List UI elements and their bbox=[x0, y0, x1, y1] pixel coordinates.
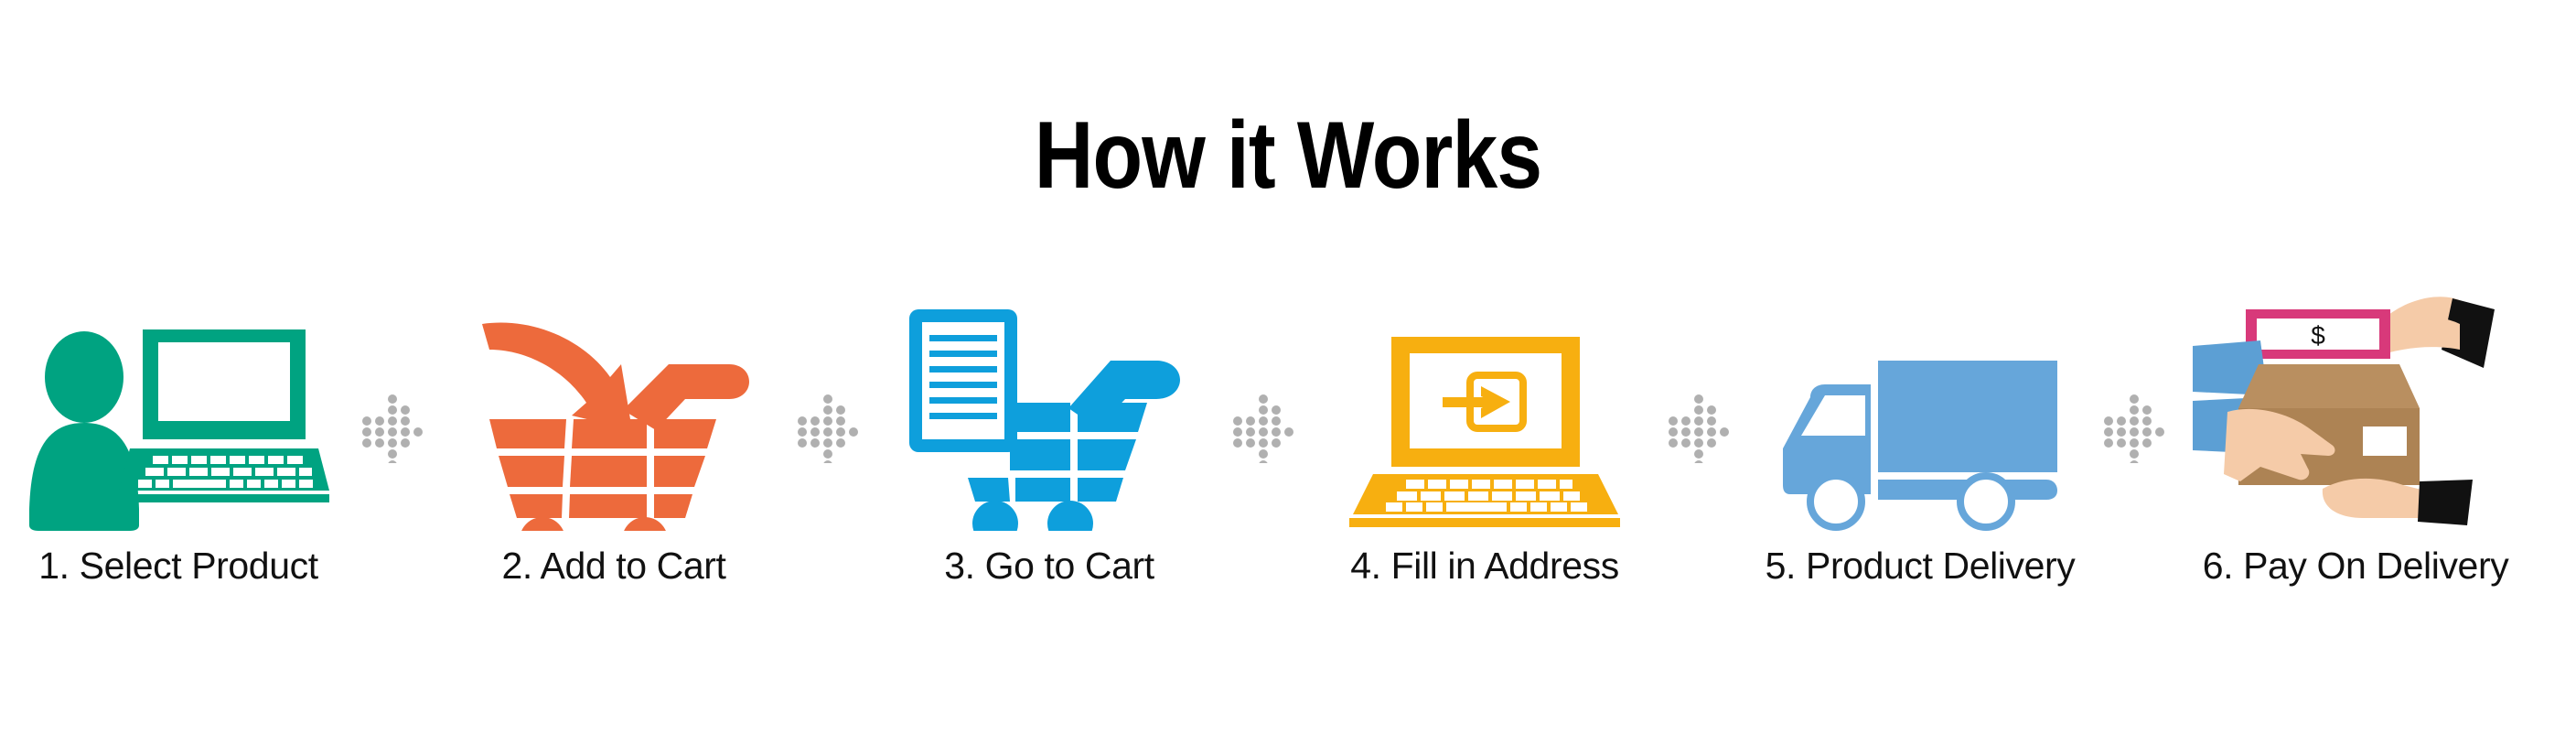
step-pay-on-delivery[interactable]: $ bbox=[2177, 302, 2534, 632]
dotted-arrow-right-icon bbox=[1228, 302, 1306, 632]
page-title: How it Works bbox=[180, 108, 2396, 203]
step-label: 6. Pay On Delivery bbox=[2203, 544, 2509, 588]
step-label: 2. Add to Cart bbox=[501, 544, 725, 588]
dotted-arrow-right-icon bbox=[357, 302, 435, 632]
document-with-cart-icon bbox=[871, 302, 1228, 531]
dotted-arrow-right-icon bbox=[1663, 302, 1742, 632]
how-it-works-infographic: How it Works bbox=[0, 0, 2576, 745]
delivery-truck-icon bbox=[1742, 302, 2098, 531]
dotted-arrow-right-icon bbox=[792, 302, 871, 632]
steps-row: 1. Select Product bbox=[0, 302, 2576, 632]
hands-exchanging-box-and-money-icon: $ bbox=[2177, 302, 2534, 531]
step-label: 1. Select Product bbox=[38, 544, 317, 588]
step-add-to-cart[interactable]: 2. Add to Cart bbox=[435, 302, 792, 632]
step-fill-in-address[interactable]: 4. Fill in Address bbox=[1306, 302, 1663, 632]
arrow-into-cart-icon bbox=[435, 302, 792, 531]
step-label: 4. Fill in Address bbox=[1350, 544, 1619, 588]
step-go-to-cart[interactable]: 3. Go to Cart bbox=[871, 302, 1228, 632]
step-label: 5. Product Delivery bbox=[1766, 544, 2076, 588]
step-select-product[interactable]: 1. Select Product bbox=[0, 302, 357, 632]
dotted-arrow-right-icon bbox=[2098, 302, 2177, 632]
money-dollar-symbol: $ bbox=[2311, 321, 2325, 350]
laptop-login-form-icon bbox=[1306, 302, 1663, 531]
person-at-laptop-icon bbox=[0, 302, 357, 531]
step-product-delivery[interactable]: 5. Product Delivery bbox=[1742, 302, 2098, 632]
step-label: 3. Go to Cart bbox=[944, 544, 1154, 588]
